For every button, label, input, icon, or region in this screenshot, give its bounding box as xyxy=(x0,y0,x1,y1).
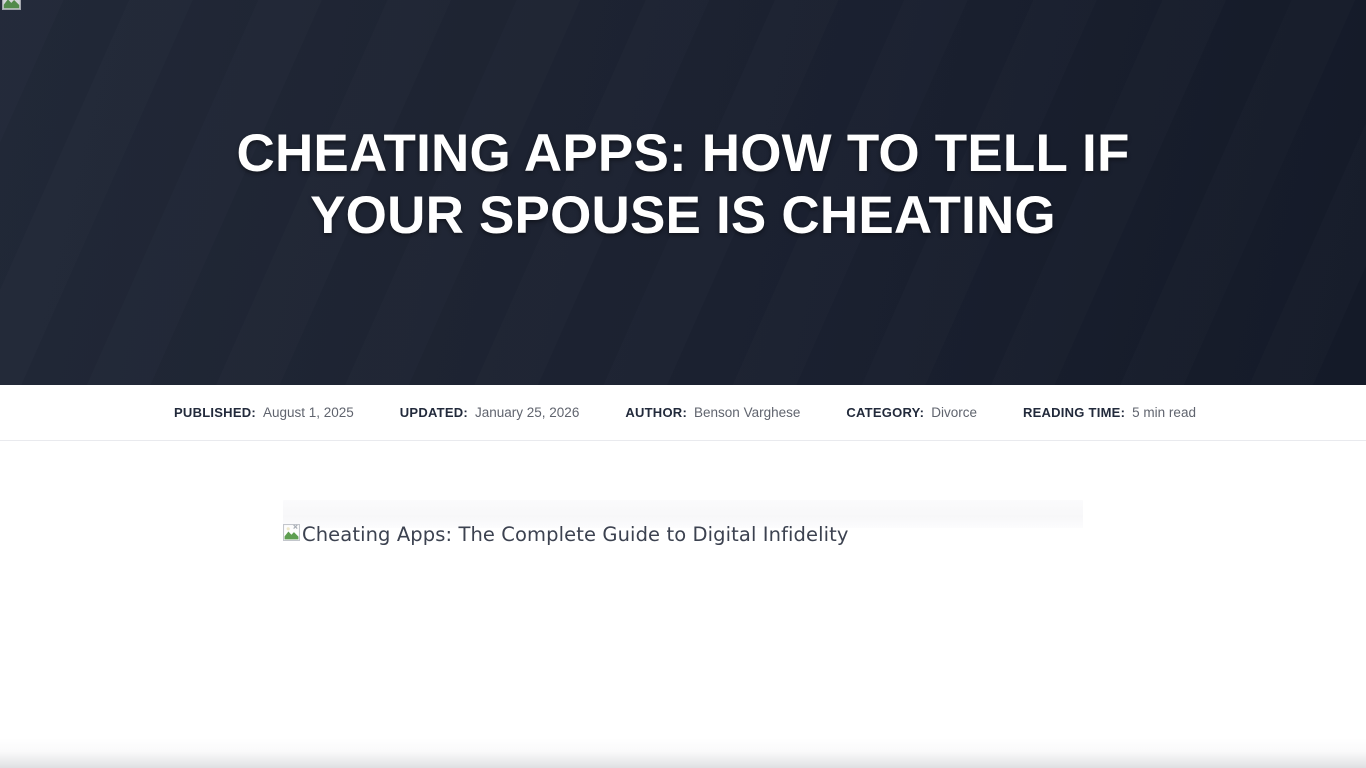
meta-value-category[interactable]: Divorce xyxy=(931,405,977,420)
broken-image-icon xyxy=(283,524,300,541)
meta-value-updated: January 25, 2026 xyxy=(475,405,579,420)
page-title: Cheating Apps: How to Tell if Your Spous… xyxy=(123,123,1243,247)
meta-item-published: PUBLISHED: August 1, 2025 xyxy=(174,405,354,420)
meta-item-updated: UPDATED: January 25, 2026 xyxy=(400,405,580,420)
meta-value-published: August 1, 2025 xyxy=(263,405,354,420)
hero-inner: Cheating Apps: How to Tell if Your Spous… xyxy=(0,0,1366,385)
hero-banner: Cheating Apps: How to Tell if Your Spous… xyxy=(0,0,1366,385)
meta-item-category: CATEGORY: Divorce xyxy=(846,405,977,420)
meta-label-category: CATEGORY: xyxy=(846,405,924,420)
article-content: Cheating Apps: The Complete Guide to Dig… xyxy=(0,442,1366,768)
featured-image[interactable]: Cheating Apps: The Complete Guide to Dig… xyxy=(283,522,849,548)
featured-image-alt-text: Cheating Apps: The Complete Guide to Dig… xyxy=(302,522,849,548)
meta-value-author[interactable]: Benson Varghese xyxy=(694,405,800,420)
page-bottom-fade xyxy=(0,738,1366,768)
meta-value-reading-time: 5 min read xyxy=(1132,405,1196,420)
article-meta-bar: PUBLISHED: August 1, 2025 UPDATED: Janua… xyxy=(0,385,1366,441)
meta-label-updated: UPDATED: xyxy=(400,405,468,420)
meta-item-author: AUTHOR: Benson Varghese xyxy=(625,405,800,420)
meta-label-published: PUBLISHED: xyxy=(174,405,256,420)
meta-label-author: AUTHOR: xyxy=(625,405,687,420)
article-meta-list: PUBLISHED: August 1, 2025 UPDATED: Janua… xyxy=(170,405,1196,420)
article-page: Cheating Apps: How to Tell if Your Spous… xyxy=(0,0,1366,768)
meta-label-reading-time: READING TIME: xyxy=(1023,405,1125,420)
meta-item-reading-time: READING TIME: 5 min read xyxy=(1023,405,1196,420)
